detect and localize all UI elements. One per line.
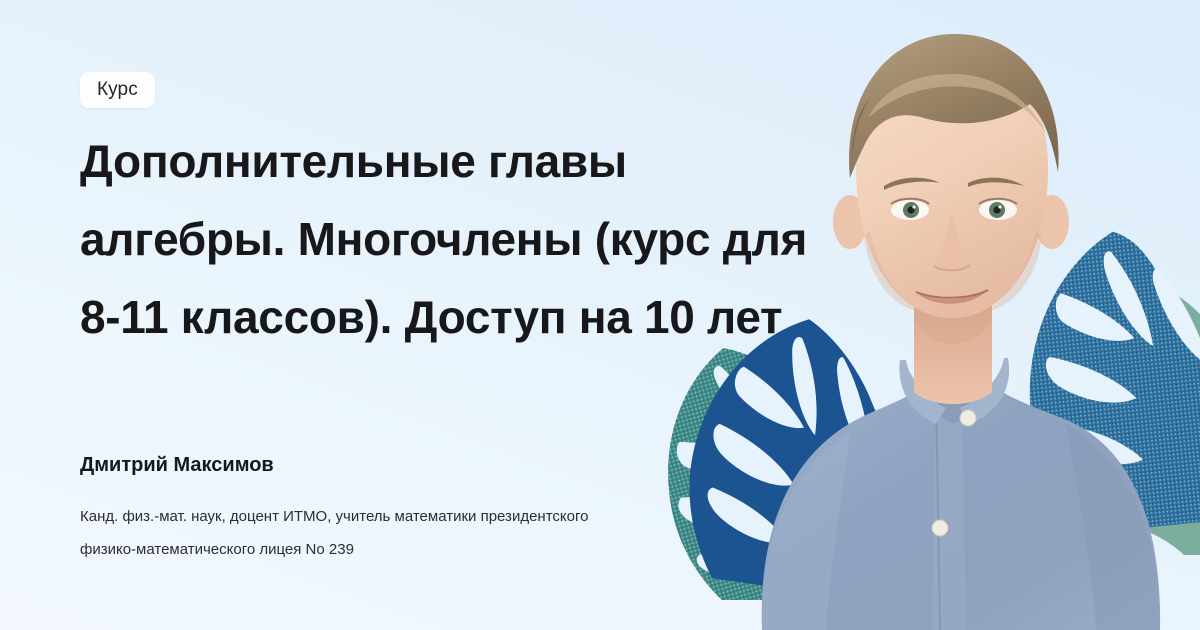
title-line-1: Дополнительные главы	[80, 122, 820, 200]
credentials-line-2: физико-математического лицея No 239	[80, 533, 720, 566]
page-title: Дополнительные главы алгебры. Многочлены…	[80, 122, 820, 356]
title-line-3: 8-11 классов). Доступ на 10 лет	[80, 278, 820, 356]
course-type-badge: Курс	[80, 72, 155, 108]
course-promo-card: Курс Дополнительные главы алгебры. Много…	[0, 0, 1200, 630]
author-credentials: Канд. физ.-мат. наук, доцент ИТМО, учите…	[80, 500, 720, 566]
author-name: Дмитрий Максимов	[80, 452, 274, 478]
credentials-line-1: Канд. физ.-мат. наук, доцент ИТМО, учите…	[80, 500, 720, 533]
text-content: Курс Дополнительные главы алгебры. Много…	[80, 0, 840, 630]
title-line-2: алгебры. Многочлены (курс для	[80, 200, 820, 278]
